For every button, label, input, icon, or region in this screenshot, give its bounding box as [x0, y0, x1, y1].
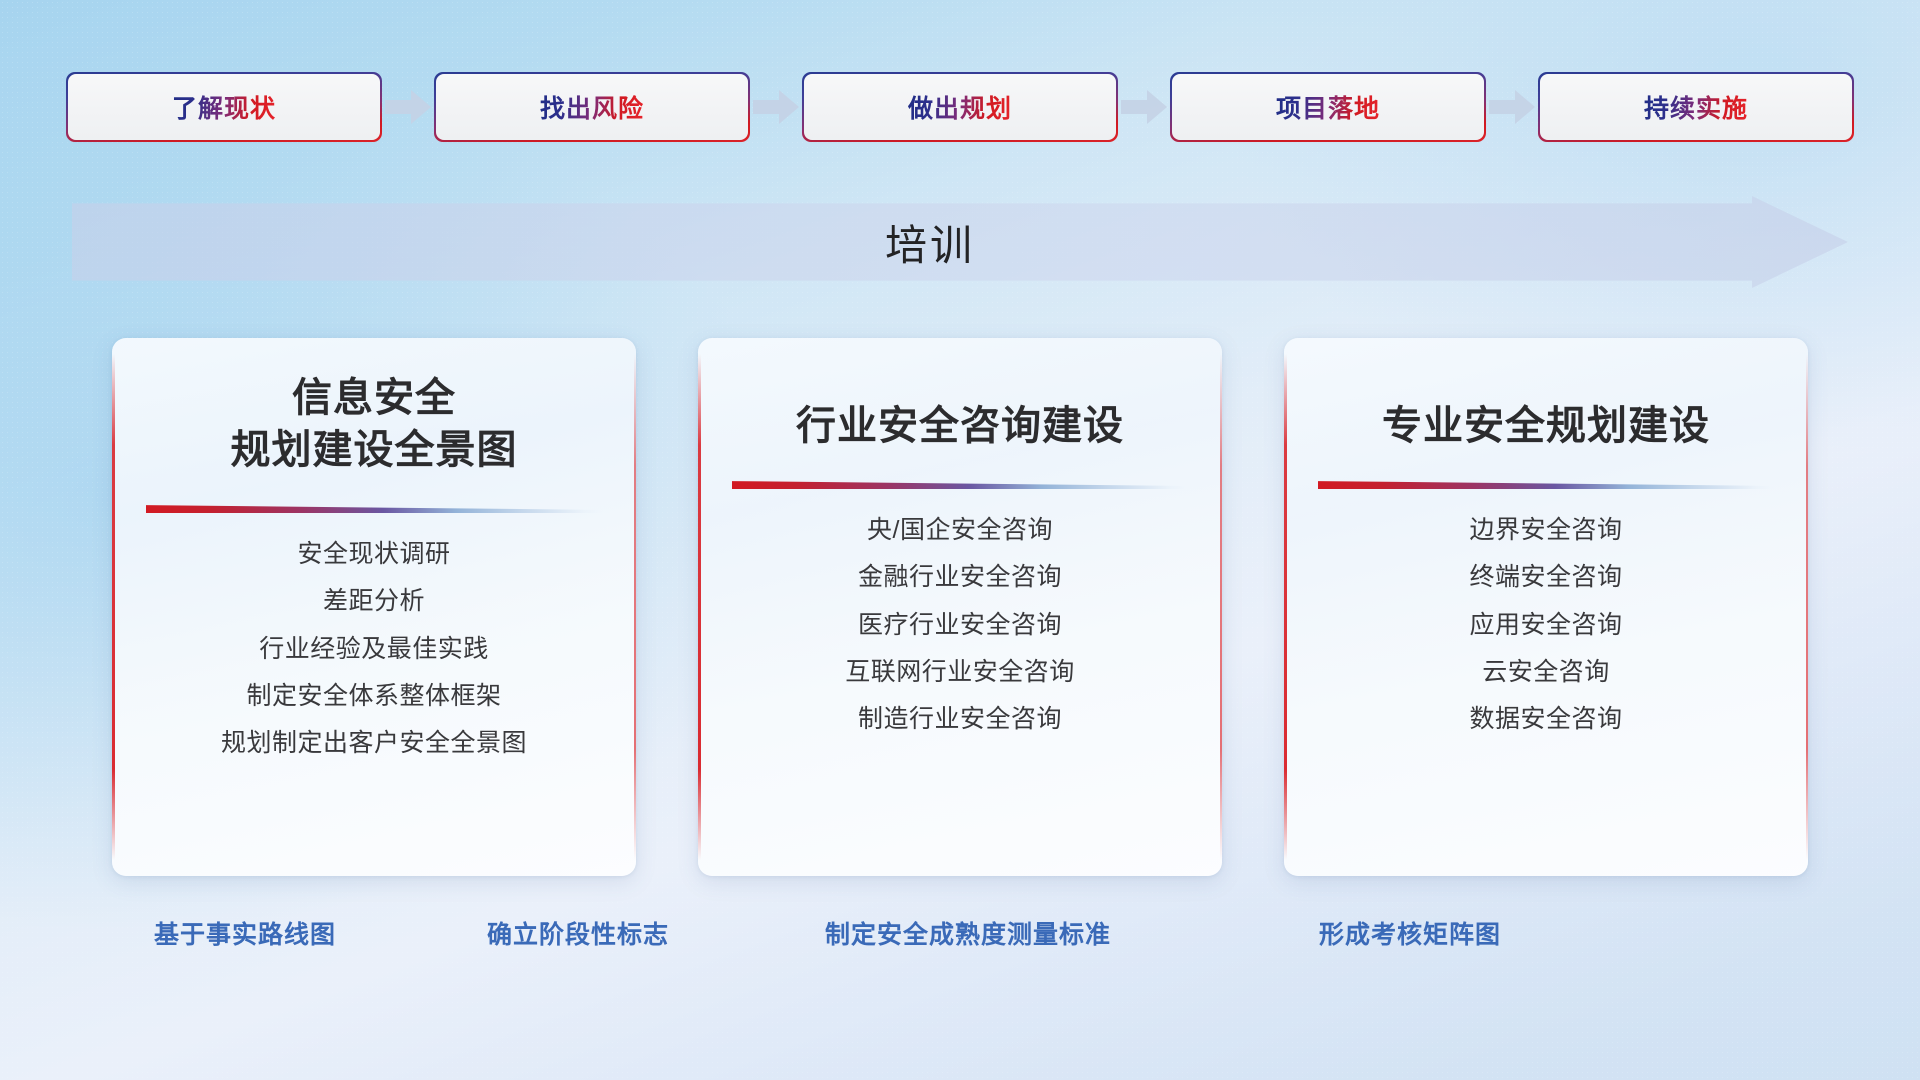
training-banner: 培训 [72, 196, 1848, 288]
list-item: 行业经验及最佳实践 [259, 634, 489, 665]
card-title: 专业安全规划建设 [1314, 372, 1778, 452]
list-item: 云安全咨询 [1482, 657, 1610, 688]
card-row: 信息安全 规划建设全景图 安全现状调研 差距分析 行业经验及最佳实践 制定安全体… [112, 338, 1808, 876]
list-item: 边界安全咨询 [1469, 515, 1622, 546]
card-professional-security-planning[interactable]: 专业安全规划建设 边界安全咨询 终端安全咨询 应用安全咨询 云安全咨询 数据安全… [1284, 338, 1808, 876]
step-label: 持续实施 [1644, 89, 1748, 125]
list-item: 终端安全咨询 [1469, 562, 1622, 593]
card-title: 信息安全 规划建设全景图 [142, 372, 606, 476]
card-divider [1318, 478, 1774, 489]
card-information-security-blueprint[interactable]: 信息安全 规划建设全景图 安全现状调研 差距分析 行业经验及最佳实践 制定安全体… [112, 338, 636, 876]
footer-label-4: 形成考核矩阵图 [1319, 915, 1501, 951]
card-accent-right [1220, 354, 1223, 860]
list-item: 应用安全咨询 [1469, 610, 1622, 641]
list-item: 医疗行业安全咨询 [858, 610, 1062, 641]
card-accent-left [112, 354, 115, 860]
step-arrow-icon-3 [1116, 87, 1172, 127]
card-item-list: 央/国企安全咨询 金融行业安全咨询 医疗行业安全咨询 互联网行业安全咨询 制造行… [728, 515, 1192, 735]
card-item-list: 边界安全咨询 终端安全咨询 应用安全咨询 云安全咨询 数据安全咨询 [1314, 515, 1778, 735]
banner-label: 培训 [72, 196, 1848, 288]
step-label: 做出规划 [908, 89, 1012, 125]
step-pill-3[interactable]: 做出规划 [804, 74, 1116, 140]
card-title: 行业安全咨询建设 [728, 372, 1192, 452]
card-accent-right [634, 354, 637, 860]
step-pill-1[interactable]: 了解现状 [68, 74, 380, 140]
card-industry-security-consulting[interactable]: 行业安全咨询建设 央/国企安全咨询 金融行业安全咨询 医疗行业安全咨询 互联网行… [698, 338, 1222, 876]
step-label: 了解现状 [172, 89, 276, 125]
card-item-list: 安全现状调研 差距分析 行业经验及最佳实践 制定安全体系整体框架 规划制定出客户… [142, 539, 606, 759]
slide-canvas: 了解现状 找出风险 做出规划 项目落地 [0, 0, 1920, 1080]
step-label: 找出风险 [540, 89, 644, 125]
list-item: 差距分析 [323, 586, 425, 617]
footer-label-3: 制定安全成熟度测量标准 [825, 915, 1111, 951]
card-divider [146, 502, 602, 513]
list-item: 规划制定出客户安全全景图 [221, 728, 527, 759]
step-arrow-icon-1 [380, 87, 436, 127]
step-pill-2[interactable]: 找出风险 [436, 74, 748, 140]
step-pill-4[interactable]: 项目落地 [1172, 74, 1484, 140]
card-accent-left [1284, 354, 1287, 860]
step-arrow-icon-2 [748, 87, 804, 127]
footer-label-1: 基于事实路线图 [154, 915, 336, 951]
step-arrow-icon-4 [1484, 87, 1540, 127]
list-item: 数据安全咨询 [1469, 704, 1622, 735]
list-item: 互联网行业安全咨询 [845, 657, 1075, 688]
list-item: 制造行业安全咨询 [858, 704, 1062, 735]
card-accent-left [698, 354, 701, 860]
step-pill-5[interactable]: 持续实施 [1540, 74, 1852, 140]
list-item: 金融行业安全咨询 [858, 562, 1062, 593]
step-label: 项目落地 [1276, 89, 1380, 125]
process-step-row: 了解现状 找出风险 做出规划 项目落地 [68, 74, 1852, 140]
list-item: 安全现状调研 [297, 539, 450, 570]
footer-label-row: 基于事实路线图 确立阶段性标志 制定安全成熟度测量标准 形成考核矩阵图 [0, 915, 1920, 959]
footer-label-2: 确立阶段性标志 [487, 915, 669, 951]
card-accent-right [1806, 354, 1809, 860]
list-item: 央/国企安全咨询 [867, 515, 1053, 546]
card-divider [732, 478, 1188, 489]
list-item: 制定安全体系整体框架 [246, 681, 501, 712]
